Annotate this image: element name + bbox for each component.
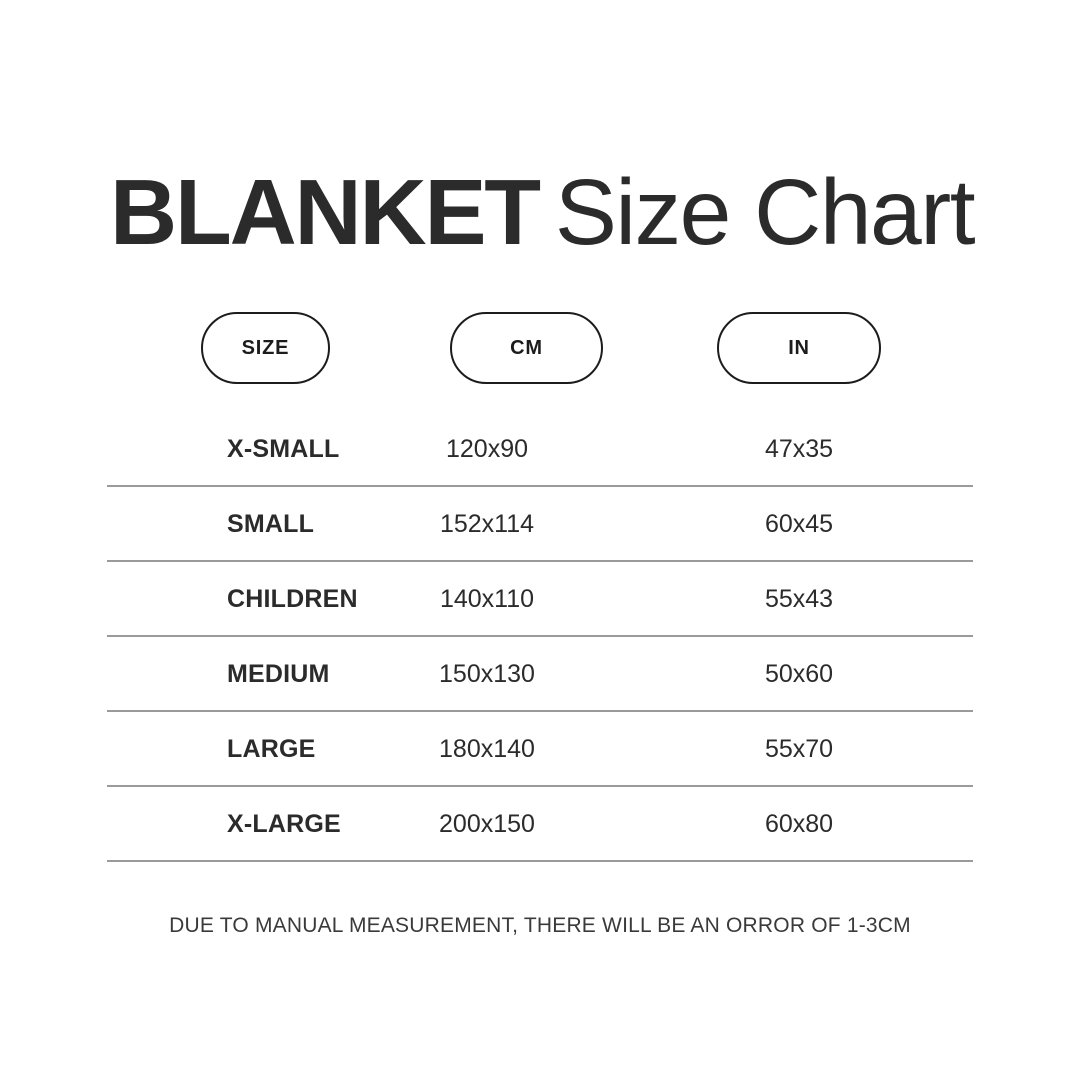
cell-cm: 152x114	[407, 487, 567, 562]
cell-in: 55x70	[719, 712, 879, 787]
cell-size: X-SMALL	[227, 412, 340, 487]
cell-cm: 120x90	[407, 412, 567, 487]
cell-size: X-LARGE	[227, 787, 341, 862]
cell-in: 55x43	[719, 562, 879, 637]
cell-cm: 180x140	[407, 712, 567, 787]
table-row: X-SMALL 120x90 47x35	[107, 412, 973, 487]
column-header-in-label: IN	[788, 337, 810, 360]
cell-in: 60x80	[719, 787, 879, 862]
table-row: MEDIUM 150x130 50x60	[107, 637, 973, 712]
cell-size: SMALL	[227, 487, 314, 562]
column-header-cm: CM	[450, 312, 603, 384]
column-header-cm-label: CM	[510, 337, 543, 360]
measurement-disclaimer: DUE TO MANUAL MEASUREMENT, THERE WILL BE…	[0, 914, 1080, 938]
page-title: BLANKETSize Chart	[110, 166, 974, 259]
cell-in: 47x35	[719, 412, 879, 487]
cell-cm: 140x110	[407, 562, 567, 637]
table-row: CHILDREN 140x110 55x43	[107, 562, 973, 637]
column-header-size-label: SIZE	[242, 337, 290, 360]
column-header-size: SIZE	[201, 312, 330, 384]
size-table: X-SMALL 120x90 47x35 SMALL 152x114 60x45…	[107, 412, 973, 862]
table-row: X-LARGE 200x150 60x80	[107, 787, 973, 862]
table-row: LARGE 180x140 55x70	[107, 712, 973, 787]
size-chart-page: BLANKETSize Chart SIZE CM IN X-SMALL 120…	[0, 0, 1080, 1080]
cell-size: LARGE	[227, 712, 316, 787]
page-title-secondary: Size Chart	[555, 160, 974, 264]
table-row: SMALL 152x114 60x45	[107, 487, 973, 562]
cell-in: 60x45	[719, 487, 879, 562]
cell-cm: 150x130	[407, 637, 567, 712]
cell-size: MEDIUM	[227, 637, 330, 712]
column-header-in: IN	[717, 312, 881, 384]
page-title-primary: BLANKET	[110, 160, 539, 264]
cell-cm: 200x150	[407, 787, 567, 862]
cell-size: CHILDREN	[227, 562, 358, 637]
cell-in: 50x60	[719, 637, 879, 712]
column-header-row: SIZE CM IN	[0, 312, 1080, 386]
